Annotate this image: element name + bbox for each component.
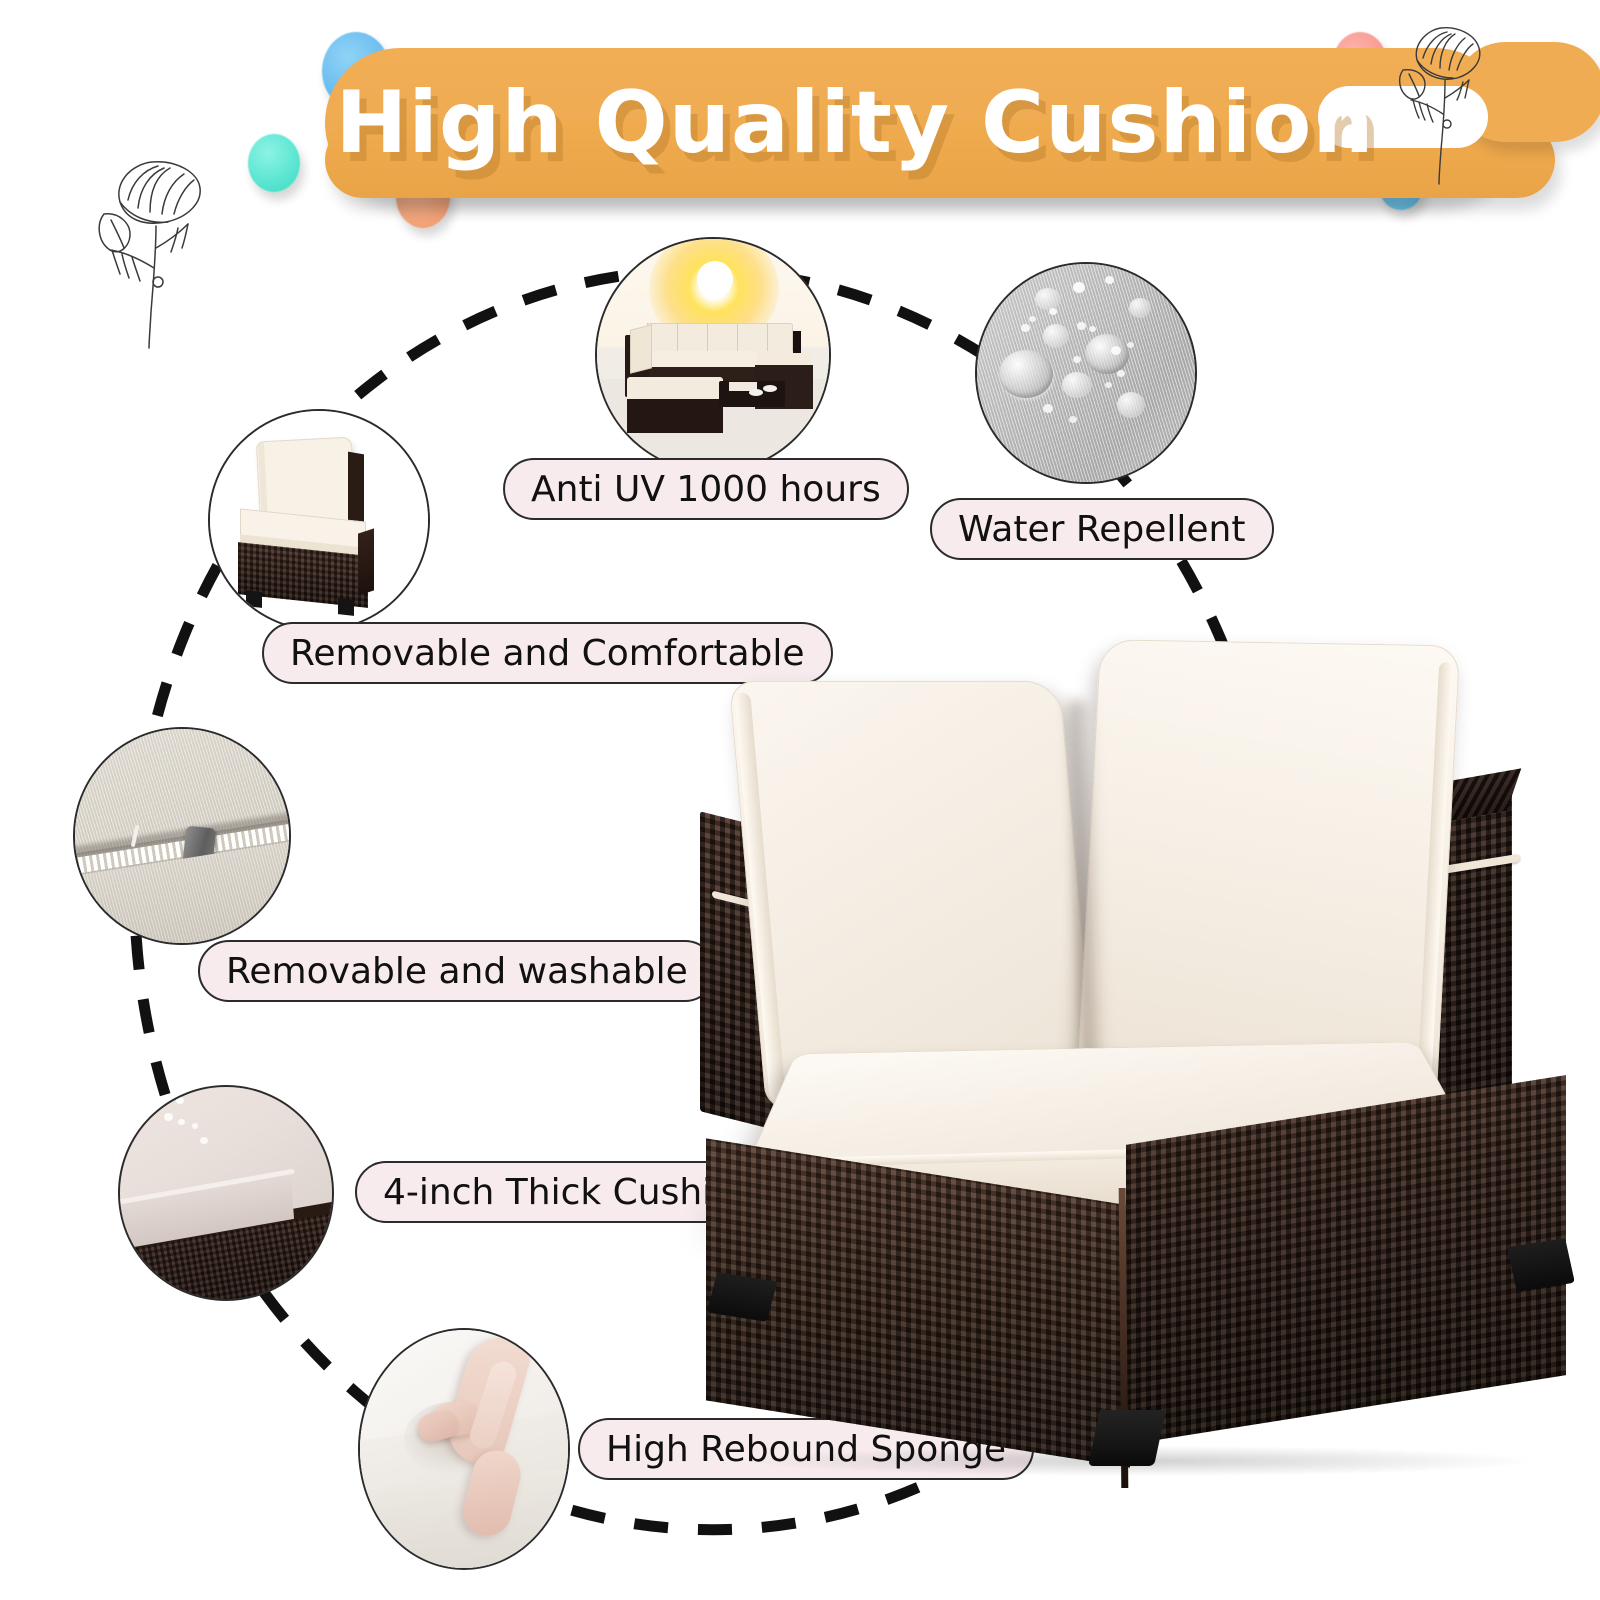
single-armless-chair-photo xyxy=(210,411,428,629)
label-anti-uv: Anti UV 1000 hours xyxy=(503,458,909,520)
label-water-repellent: Water Repellent xyxy=(930,498,1274,560)
sofa-leg xyxy=(1507,1238,1575,1292)
feature-circle-water-repellent xyxy=(975,262,1197,484)
infographic-canvas: High Quality Cushion xyxy=(0,0,1600,1600)
main-product-image xyxy=(690,600,1600,1560)
feature-circle-removable-washable xyxy=(73,727,291,945)
label-water-repellent-text: Water Repellent xyxy=(958,509,1246,550)
feature-circle-rebound-sponge xyxy=(358,1328,570,1570)
sectional-sofa-under-sun-photo xyxy=(597,239,829,471)
poppy-flower-left-icon xyxy=(80,150,220,350)
feature-circle-thick-cushion xyxy=(118,1085,334,1301)
header-banner: High Quality Cushion xyxy=(0,0,1600,240)
feature-circle-removable-comfortable xyxy=(208,409,430,631)
feature-circle-anti-uv xyxy=(595,237,831,473)
label-removable-washable-text: Removable and washable xyxy=(226,951,688,992)
hand-pressing-sponge-photo xyxy=(360,1330,568,1568)
water-droplets-on-fabric-photo xyxy=(977,264,1195,482)
cushion-zipper-closeup-photo xyxy=(75,729,289,943)
left-back-cushion xyxy=(729,681,1098,1109)
label-removable-washable: Removable and washable xyxy=(198,940,716,1002)
thick-seat-cushion-corner-photo xyxy=(120,1087,332,1299)
page-title: High Quality Cushion xyxy=(325,48,1385,198)
poppy-flower-right-icon xyxy=(1383,18,1493,188)
product-ground-shadow xyxy=(750,1446,1530,1476)
label-anti-uv-text: Anti UV 1000 hours xyxy=(531,469,881,510)
cyan-dot-icon xyxy=(248,134,300,192)
